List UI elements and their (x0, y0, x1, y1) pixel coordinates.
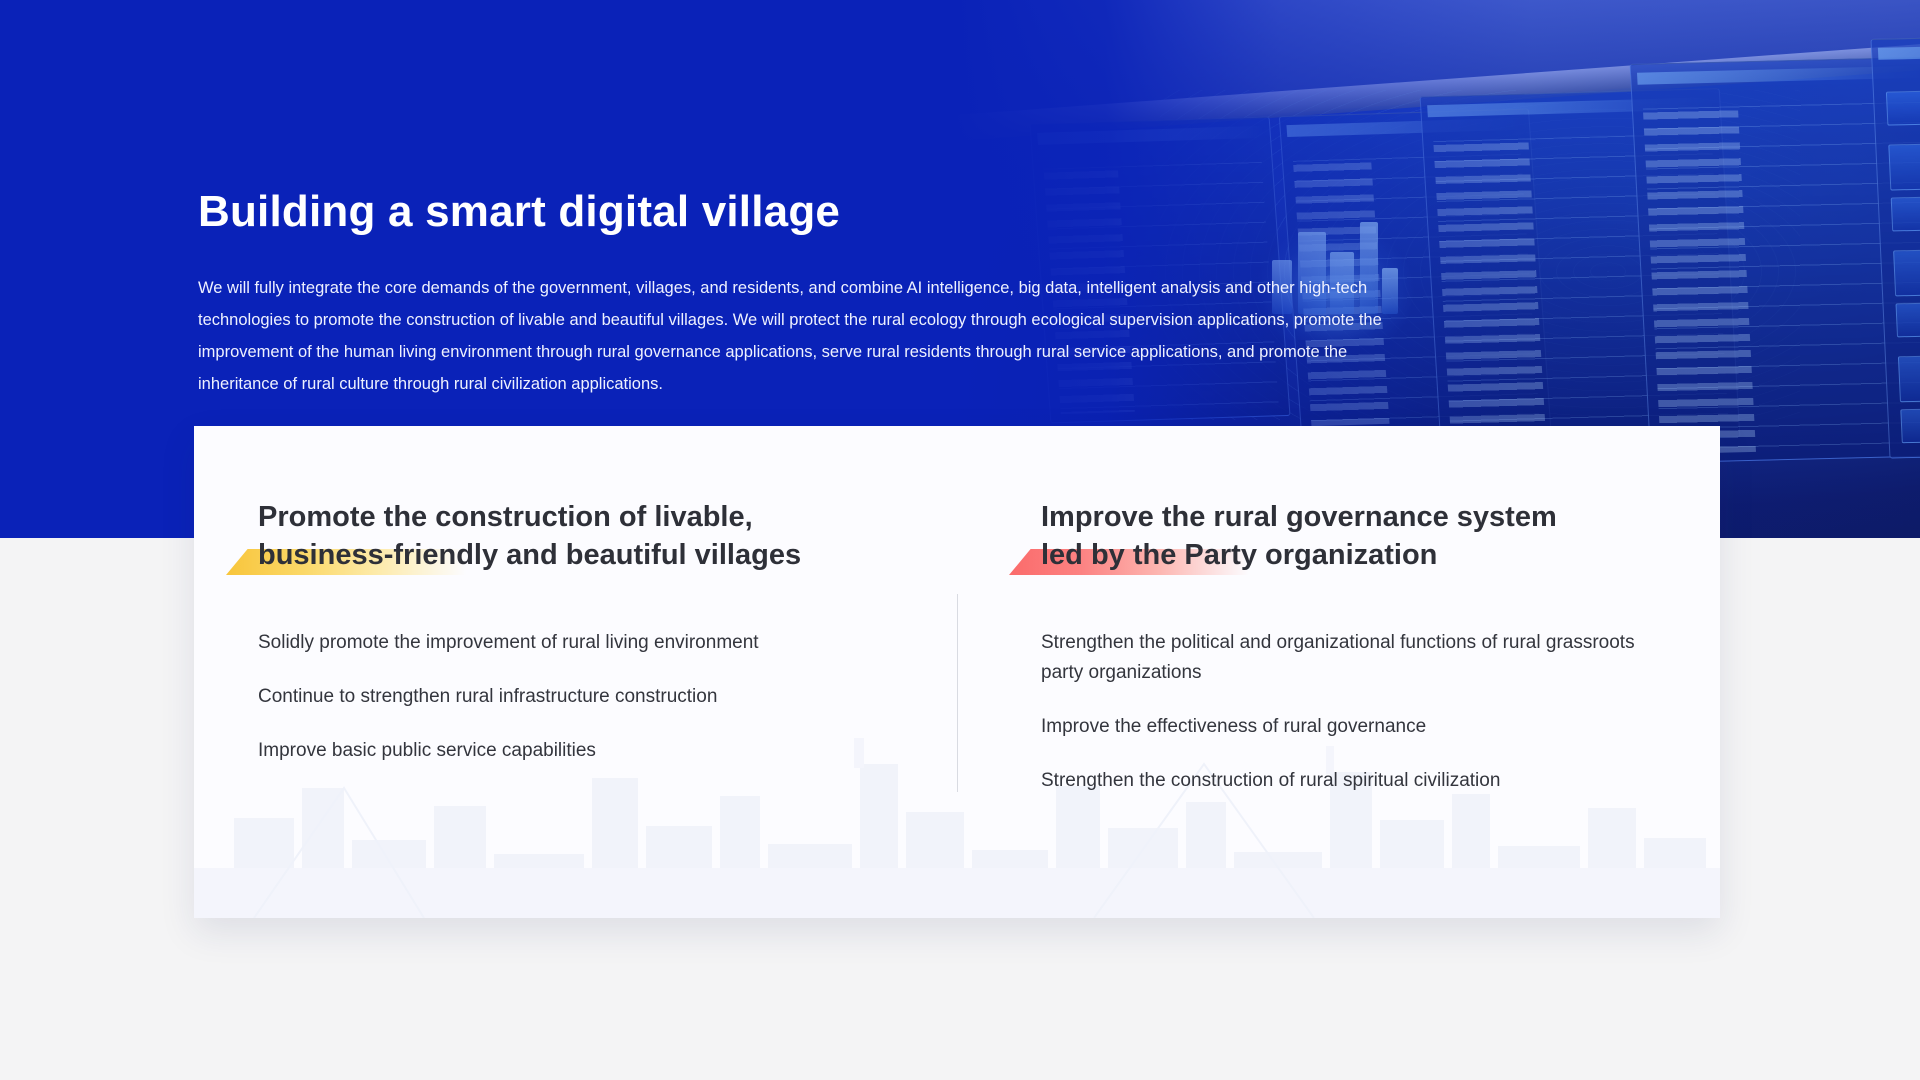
column-heading-line-2: business-friendly and beautiful villages (258, 539, 801, 571)
column-heading-line-1: Promote the construction of livable, (258, 501, 753, 533)
list-item: Strengthen the political and organizatio… (1041, 628, 1681, 688)
column-divider (957, 594, 958, 792)
list-item: Improve basic public service capabilitie… (258, 736, 898, 766)
card-column-livable-villages: Promote the construction of livable, bus… (194, 426, 957, 918)
column-item-list: Strengthen the political and organizatio… (1041, 628, 1720, 796)
column-heading-line-2-wrap: business-friendly and beautiful villages (258, 536, 918, 574)
list-item: Improve the effectiveness of rural gover… (1041, 712, 1681, 742)
page-title: Building a smart digital village (198, 186, 1428, 238)
column-heading: Improve the rural governance system led … (1041, 498, 1701, 574)
column-item-list: Solidly promote the improvement of rural… (258, 628, 957, 766)
list-item: Strengthen the construction of rural spi… (1041, 766, 1681, 796)
list-item: Solidly promote the improvement of rural… (258, 628, 898, 658)
hero-description: We will fully integrate the core demands… (198, 272, 1420, 400)
column-heading-line-2: led by the Party organization (1041, 539, 1437, 571)
card-column-rural-governance: Improve the rural governance system led … (957, 426, 1720, 918)
list-item: Continue to strengthen rural infrastruct… (258, 682, 898, 712)
column-heading-line-2-wrap: led by the Party organization (1041, 536, 1701, 574)
hero-text-block: Building a smart digital village We will… (198, 186, 1428, 400)
column-heading: Promote the construction of livable, bus… (258, 498, 918, 574)
content-card: Promote the construction of livable, bus… (194, 426, 1720, 918)
column-heading-line-1: Improve the rural governance system (1041, 501, 1557, 533)
